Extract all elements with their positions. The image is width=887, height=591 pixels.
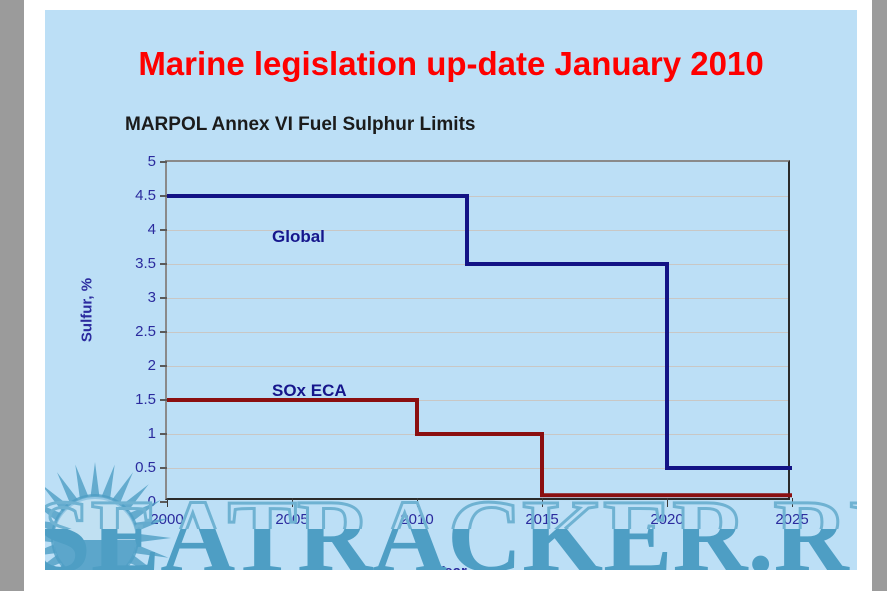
app-root: Marine legislation up-date January 2010 … (0, 0, 887, 591)
y-axis-label: 0 (148, 493, 156, 510)
y-axis-tick (160, 297, 167, 299)
y-axis-tick (160, 263, 167, 265)
y-axis-label: 3.5 (135, 255, 156, 272)
x-axis-label: 2005 (275, 511, 308, 528)
series-line (167, 196, 792, 468)
y-axis-label: 1 (148, 425, 156, 442)
chart: 00.511.522.533.544.552000200520102015202… (45, 10, 857, 570)
series-annotation: SOx ECA (272, 381, 347, 401)
y-axis-label: 4 (148, 221, 156, 238)
x-axis-label: 2000 (150, 511, 183, 528)
y-axis-tick (160, 399, 167, 401)
y-axis-tick (160, 467, 167, 469)
y-axis-tick (160, 365, 167, 367)
y-axis-label: 1.5 (135, 391, 156, 408)
y-axis-label: 5 (148, 153, 156, 170)
y-axis-label: 3 (148, 289, 156, 306)
window-right-rail (872, 0, 887, 591)
y-axis-title: Sulfur, % (79, 278, 96, 342)
window-left-rail (0, 0, 24, 591)
x-axis-label: 2015 (525, 511, 558, 528)
y-axis-label: 2 (148, 357, 156, 374)
series-layer (167, 162, 792, 502)
y-axis-tick (160, 331, 167, 333)
window-bottom-bar (24, 583, 872, 591)
y-axis-tick (160, 229, 167, 231)
y-axis-label: 4.5 (135, 187, 156, 204)
x-axis-label: 2010 (400, 511, 433, 528)
plot-area: 00.511.522.533.544.552000200520102015202… (165, 160, 790, 500)
series-annotation: Global (272, 227, 325, 247)
y-axis-tick (160, 501, 167, 503)
series-line (167, 400, 792, 495)
y-axis-tick (160, 433, 167, 435)
x-axis-label: 2025 (775, 511, 808, 528)
slide: Marine legislation up-date January 2010 … (45, 10, 857, 570)
x-axis-label: 2020 (650, 511, 683, 528)
y-axis-label: 2.5 (135, 323, 156, 340)
y-axis-tick (160, 161, 167, 163)
y-axis-tick (160, 195, 167, 197)
y-axis-label: 0.5 (135, 459, 156, 476)
x-axis-title: Year (45, 563, 857, 570)
x-axis-tick (792, 498, 793, 507)
